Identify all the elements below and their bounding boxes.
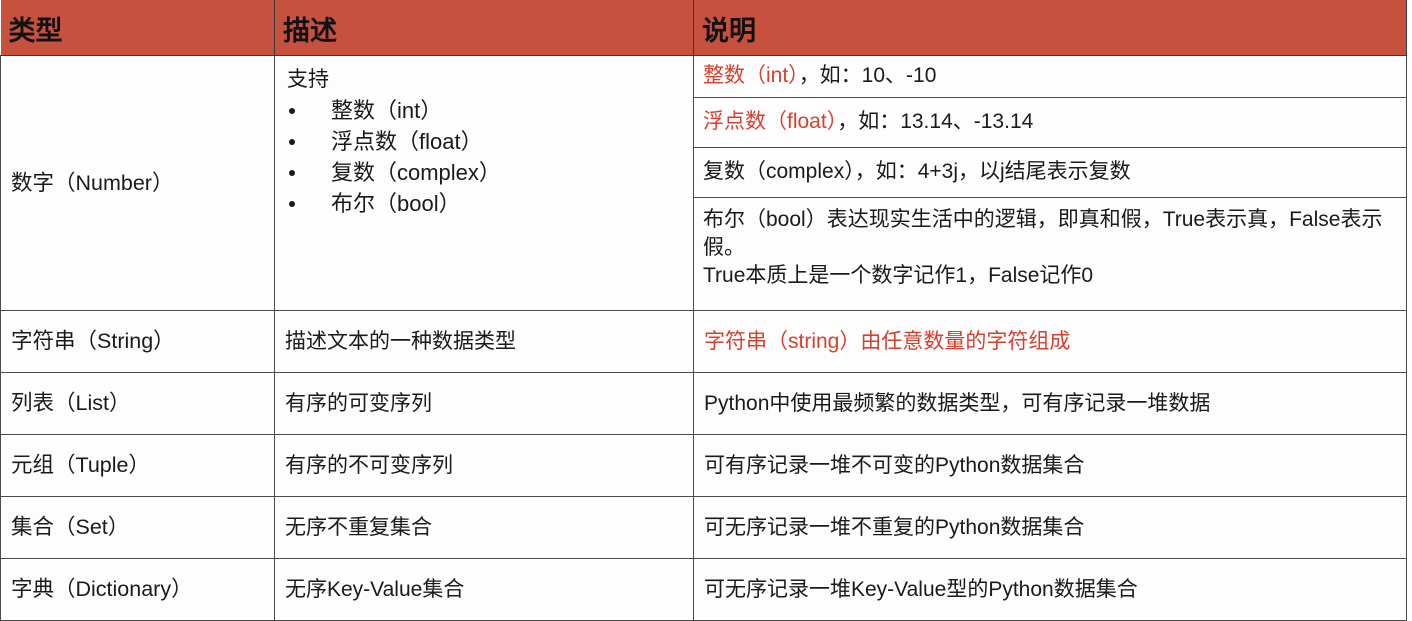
cell-description-string: 描述文本的一种数据类型 [275,311,694,373]
header-cell-description: 描述 [275,0,694,56]
subrow-bool: 布尔（bool）表达现实生活中的逻辑，即真和假，True表示真，False表示假… [694,198,1406,311]
cell-type-list: 列表（List） [1,373,275,435]
complex-text: 复数（complex），如：4+3j，以j结尾表示复数 [703,160,1131,183]
subrow-cell: 布尔（bool）表达现实生活中的逻辑，即真和假，True表示真，False表示假… [694,198,1406,311]
cell-description-list: 有序的可变序列 [275,373,694,435]
cell-description-tuple: 有序的不可变序列 [275,435,694,497]
table-row-set: 集合（Set） 无序不重复集合 可无序记录一堆不重复的Python数据集合 [1,497,1407,559]
int-example: ，如：10、-10 [799,64,937,87]
subrow-cell: 浮点数（float），如：13.14、-13.14 [694,98,1406,148]
support-label: 支持 [287,66,683,94]
header-row: 类型 描述 说明 [1,0,1407,56]
list-item: 复数（complex） [285,157,683,188]
subrow-int: 整数（int），如：10、-10 [694,56,1406,98]
subrow-cell: 整数（int），如：10、-10 [694,56,1406,98]
cell-explanation-tuple: 可有序记录一堆不可变的Python数据集合 [694,435,1407,497]
subrow-complex: 复数（complex），如：4+3j，以j结尾表示复数 [694,148,1406,198]
cell-type-number: 数字（Number） [1,56,275,311]
cell-explanation-string: 字符串（string）由任意数量的字符组成 [694,311,1407,373]
number-explanation-subrows: 整数（int），如：10、-10 浮点数（float），如：13.14、-13.… [694,56,1406,310]
table-row-dictionary: 字典（Dictionary） 无序Key-Value集合 可无序记录一堆Key-… [1,559,1407,621]
cell-explanation-set: 可无序记录一堆不重复的Python数据集合 [694,497,1407,559]
list-item: 布尔（bool） [285,188,683,219]
number-subtype-list: 整数（int） 浮点数（float） 复数（complex） 布尔（bool） [285,95,683,220]
cell-type-dictionary: 字典（Dictionary） [1,559,275,621]
subrow-float: 浮点数（float），如：13.14、-13.14 [694,98,1406,148]
cell-type-set: 集合（Set） [1,497,275,559]
list-item: 整数（int） [285,95,683,126]
cell-description-number: 支持 整数（int） 浮点数（float） 复数（complex） 布尔（boo… [275,56,694,311]
int-keyword: 整数（int） [703,64,799,87]
cell-description-set: 无序不重复集合 [275,497,694,559]
bool-text: 布尔（bool）表达现实生活中的逻辑，即真和假，True表示真，False表示假… [703,208,1382,287]
list-item: 浮点数（float） [285,126,683,157]
cell-description-dictionary: 无序Key-Value集合 [275,559,694,621]
float-keyword: 浮点数（float） [703,110,837,133]
python-data-types-table: 类型 描述 说明 数字（Number） 支持 整数（int） 浮点数（float… [0,0,1407,621]
data-types-table-container: 类型 描述 说明 数字（Number） 支持 整数（int） 浮点数（float… [0,0,1412,566]
cell-explanation-dictionary: 可无序记录一堆Key-Value型的Python数据集合 [694,559,1407,621]
table-row-tuple: 元组（Tuple） 有序的不可变序列 可有序记录一堆不可变的Python数据集合 [1,435,1407,497]
header-cell-type: 类型 [1,0,275,56]
table-row-list: 列表（List） 有序的可变序列 Python中使用最频繁的数据类型，可有序记录… [1,373,1407,435]
cell-type-string: 字符串（String） [1,311,275,373]
subrow-cell: 复数（complex），如：4+3j，以j结尾表示复数 [694,148,1406,198]
table-row-string: 字符串（String） 描述文本的一种数据类型 字符串（string）由任意数量… [1,311,1407,373]
table-row-number: 数字（Number） 支持 整数（int） 浮点数（float） 复数（comp… [1,56,1407,311]
table-header: 类型 描述 说明 [1,0,1407,56]
header-cell-explanation: 说明 [694,0,1407,56]
table-body: 数字（Number） 支持 整数（int） 浮点数（float） 复数（comp… [1,56,1407,621]
cell-type-tuple: 元组（Tuple） [1,435,275,497]
cell-explanation-list: Python中使用最频繁的数据类型，可有序记录一堆数据 [694,373,1407,435]
float-example: ，如：13.14、-13.14 [837,110,1033,133]
cell-explanation-number: 整数（int），如：10、-10 浮点数（float），如：13.14、-13.… [694,56,1407,311]
